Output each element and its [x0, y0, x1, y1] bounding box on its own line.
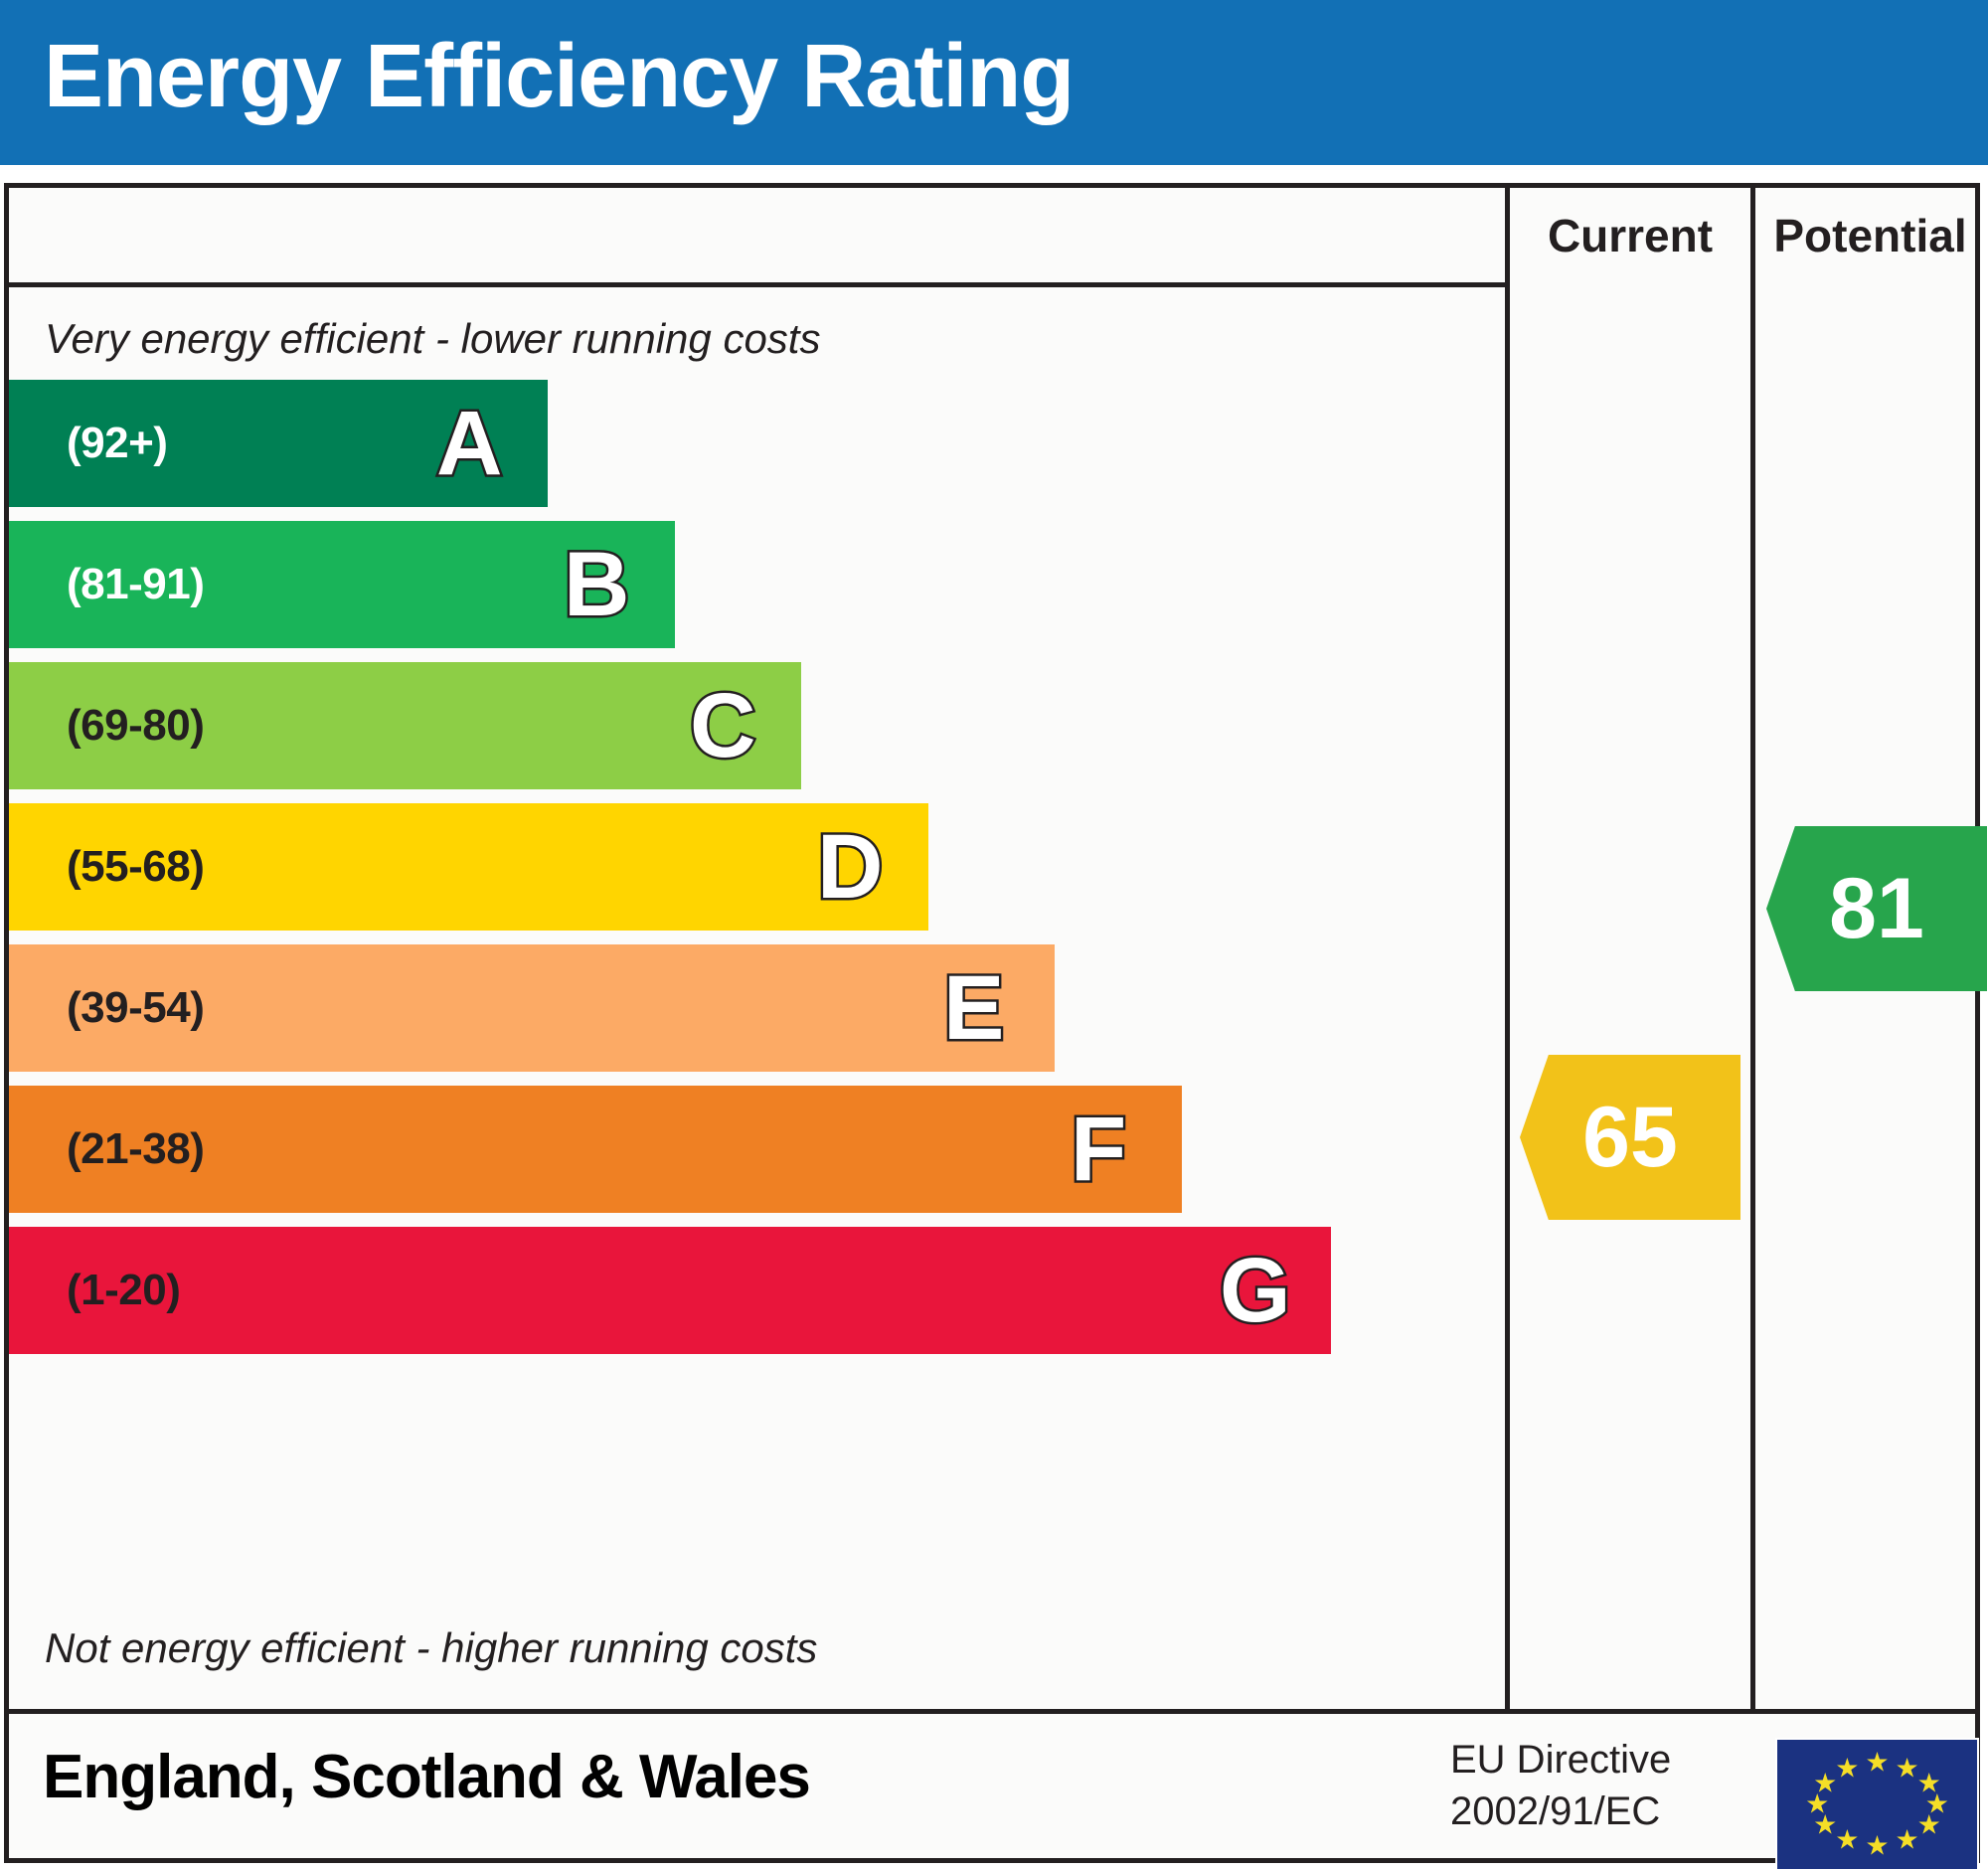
band-range-g: (1-20) — [67, 1266, 180, 1315]
band-letter-b: B — [564, 539, 629, 630]
page-title: Energy Efficiency Rating — [44, 22, 1074, 131]
band-row-g: (1-20)G — [9, 1227, 1505, 1354]
eu-directive-line1: EU Directive — [1450, 1734, 1671, 1786]
band-letter-f: F — [1071, 1104, 1126, 1195]
region-label: England, Scotland & Wales — [43, 1742, 810, 1812]
caption-top: Very energy efficient - lower running co… — [45, 315, 820, 363]
epc-energy-efficiency-chart: Energy Efficiency Rating Current Potenti… — [0, 0, 1988, 1867]
band-range-f: (21-38) — [67, 1124, 204, 1174]
eu-flag-icon: ★★★★★★★★★★★★ — [1775, 1738, 1979, 1871]
band-letter-e: E — [943, 962, 1004, 1054]
potential-column-divider — [1750, 188, 1755, 1709]
current-rating-badge: 65 — [1520, 1055, 1740, 1220]
band-range-c: (69-80) — [67, 701, 204, 751]
band-range-e: (39-54) — [67, 983, 204, 1033]
eu-flag-star: ★ — [1835, 1755, 1859, 1782]
band-row-a: (92+)A — [9, 380, 1505, 507]
current-rating-value: 65 — [1582, 1089, 1678, 1187]
bands-pane: Very energy efficient - lower running co… — [9, 287, 1505, 1709]
column-header-current: Current — [1510, 188, 1750, 282]
eu-flag-star: ★ — [1813, 1771, 1837, 1797]
eu-flag-star: ★ — [1896, 1755, 1919, 1782]
rating-table: Current Potential Very energy efficient … — [4, 183, 1980, 1863]
band-fill-g — [9, 1227, 1331, 1354]
eu-directive-line2: 2002/91/EC — [1450, 1786, 1671, 1837]
band-letter-d: D — [817, 821, 883, 913]
band-range-d: (55-68) — [67, 842, 204, 892]
band-range-b: (81-91) — [67, 560, 204, 609]
column-header-potential: Potential — [1755, 188, 1985, 282]
band-row-c: (69-80)C — [9, 662, 1505, 789]
eu-flag-star: ★ — [1917, 1811, 1941, 1838]
band-row-f: (21-38)F — [9, 1086, 1505, 1213]
band-row-e: (39-54)E — [9, 944, 1505, 1072]
band-range-a: (92+) — [67, 419, 167, 468]
band-row-b: (81-91)B — [9, 521, 1505, 648]
caption-bottom: Not energy efficient - higher running co… — [45, 1624, 817, 1672]
eu-directive-label: EU Directive 2002/91/EC — [1450, 1734, 1671, 1837]
footer-row: England, Scotland & Wales EU Directive 2… — [9, 1714, 1975, 1863]
band-list: (92+)A(81-91)B(69-80)C(55-68)D(39-54)E(2… — [9, 380, 1505, 1368]
eu-flag-star: ★ — [1896, 1827, 1919, 1854]
eu-flag-star: ★ — [1865, 1750, 1889, 1777]
band-letter-g: G — [1220, 1245, 1291, 1336]
band-letter-a: A — [436, 398, 502, 489]
header-banner: Energy Efficiency Rating — [0, 0, 1988, 165]
potential-rating-value: 81 — [1829, 860, 1924, 958]
current-column-divider — [1505, 188, 1510, 1709]
band-letter-c: C — [690, 680, 755, 771]
eu-flag-star: ★ — [1835, 1827, 1859, 1854]
band-row-d: (55-68)D — [9, 803, 1505, 931]
potential-rating-badge: 81 — [1766, 826, 1987, 991]
eu-flag-star: ★ — [1865, 1832, 1889, 1859]
